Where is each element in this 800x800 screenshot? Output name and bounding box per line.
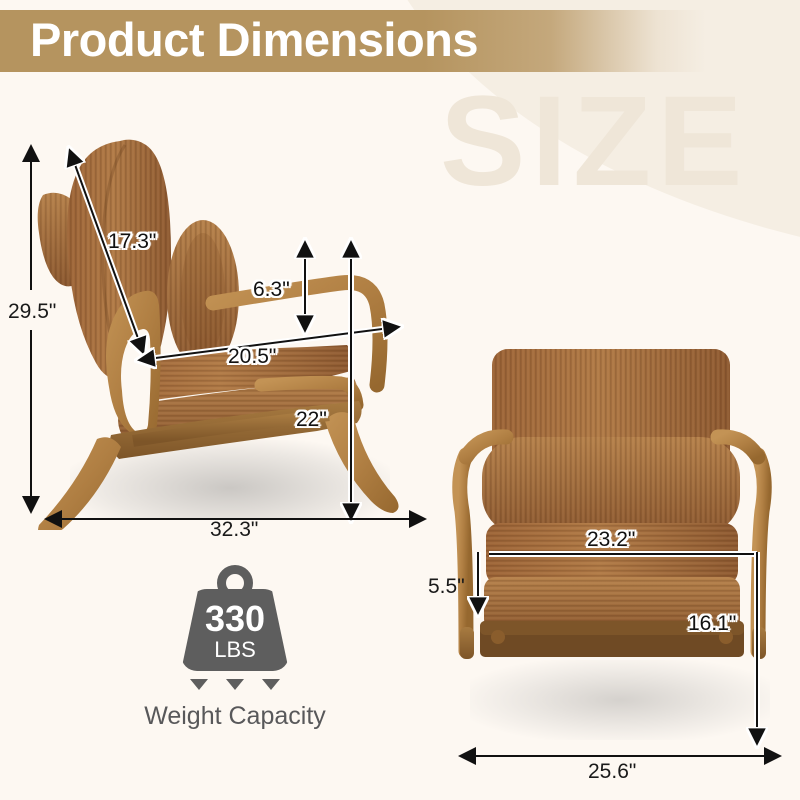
size-watermark: SIZE [440, 78, 749, 206]
down-arrow-group [120, 679, 350, 690]
down-triangle-icon [262, 679, 280, 690]
weight-capacity-block: 330 LBS Weight Capacity [120, 565, 350, 731]
page-title: Product Dimensions [30, 12, 478, 67]
weight-number: 330 [175, 601, 295, 637]
weight-unit: LBS [175, 639, 295, 661]
down-triangle-icon [190, 679, 208, 690]
dim-label-backrest-height: 17.3" [108, 230, 156, 254]
dim-label-overall-depth: 32.3" [210, 518, 258, 542]
dim-label-overall-width: 25.6" [588, 760, 636, 784]
weight-icon: 330 LBS [175, 565, 295, 675]
side-view-chair-illustration [25, 135, 415, 530]
dim-label-seat-width: 23.2" [587, 528, 635, 552]
dim-label-overall-height: 29.5" [8, 300, 56, 324]
dim-label-cushion-thickness: 5.5" [428, 575, 465, 599]
weight-capacity-caption: Weight Capacity [120, 702, 350, 731]
dim-label-seat-height: 16.1" [688, 612, 736, 636]
infographic-canvas: SIZE Product Dimensions [0, 0, 800, 800]
dim-label-seat-depth: 20.5" [228, 345, 276, 369]
dim-label-arm-height: 22" [296, 408, 327, 432]
down-triangle-icon [226, 679, 244, 690]
dim-label-armrest-to-seat: 6.3" [253, 278, 290, 302]
